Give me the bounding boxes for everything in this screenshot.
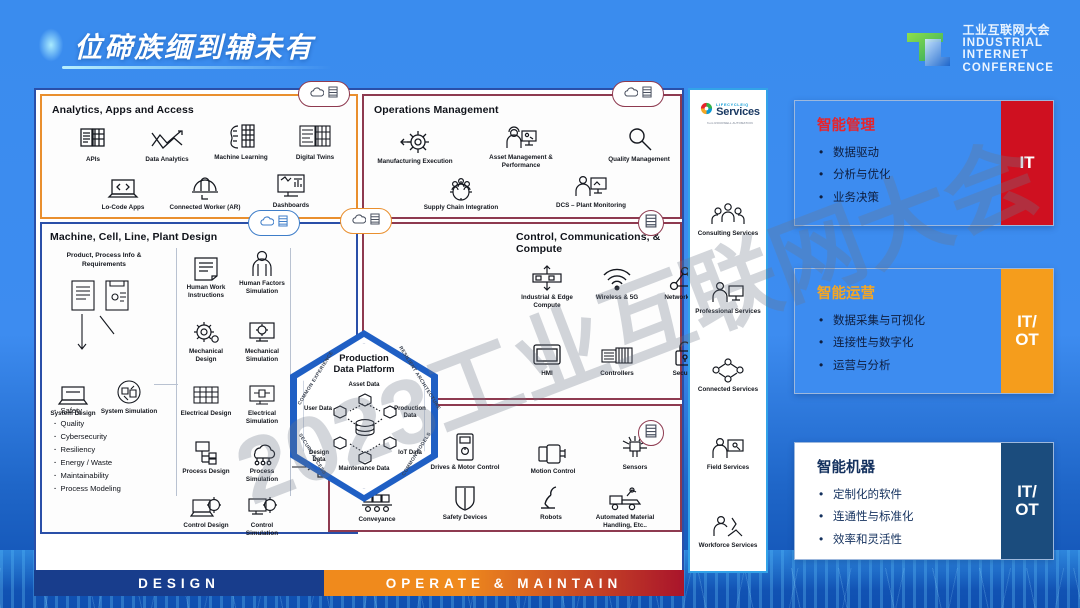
- design-group-line: [176, 248, 177, 496]
- card-2-bullets: 数据采集与可视化 连接性与数字化 运营与分析: [817, 310, 991, 377]
- hexagon-title-line1: Production: [339, 352, 388, 363]
- tile-label: Electrical Simulation: [234, 410, 290, 425]
- tile-label: Supply Chain Integration: [422, 204, 500, 212]
- badge-devices-rack[interactable]: [638, 420, 664, 446]
- tile-quality-management[interactable]: Quality Management: [600, 120, 678, 164]
- service-label: Consulting Services: [690, 230, 766, 238]
- tile-process-simulation[interactable]: Process Simulation: [234, 432, 290, 483]
- lifecycleiq-services-column[interactable]: LIFECYCLEIQ Services from ROCKWELL AUTOM…: [688, 88, 768, 573]
- title-underline: [62, 66, 332, 69]
- tile-label: DCS – Plant Monitoring: [552, 202, 630, 210]
- tile-asset-management[interactable]: Asset Management & Performance: [482, 118, 560, 169]
- tile-manufacturing-execution[interactable]: Manufacturing Execution: [376, 122, 454, 166]
- card-bullet: 数据采集与可视化: [817, 310, 991, 332]
- tile-label: Human Factors Simulation: [234, 280, 290, 295]
- card-bullet: 定制化的软件: [817, 484, 991, 506]
- controller-icon: [578, 334, 656, 368]
- bullet-item: Safety: [54, 404, 121, 417]
- page-title: 位碲族缅到辅未有: [74, 26, 314, 66]
- flow-tree-icon: [178, 432, 234, 466]
- card-1-body: 智能管理 数据驱动 分析与优化 业务决策: [795, 101, 1001, 225]
- tile-label: Dashboards: [252, 202, 330, 210]
- phase-bar-operate-maintain: OPERATE & MAINTAIN: [324, 570, 684, 596]
- tile-hmi[interactable]: HMI: [508, 334, 586, 378]
- badge-design-cloud[interactable]: [248, 210, 300, 236]
- workforce-icon: [690, 514, 766, 540]
- server-rack-icon: [278, 214, 288, 232]
- tile-supply-chain-integration[interactable]: Supply Chain Integration: [422, 168, 500, 212]
- panel-analytics-title: Analytics, Apps and Access: [52, 104, 194, 116]
- monitor-circuit-icon: [234, 374, 290, 408]
- tile-lo-code-apps[interactable]: Lo-Code Apps: [84, 168, 162, 212]
- bullet-item: Energy / Waste: [54, 456, 121, 469]
- tile-label: Controllers: [578, 370, 656, 378]
- brand-chinese: 工业互联网大会: [962, 24, 1054, 37]
- wifi-icon: [578, 258, 656, 292]
- panel-operations-title: Operations Management: [374, 104, 499, 116]
- card-2-title: 智能运营: [817, 282, 991, 303]
- architecture-diagram: Analytics, Apps and Access APIs Data Ana…: [34, 88, 684, 573]
- tile-label: Sensors: [596, 464, 674, 472]
- brand-line-2: INTERNET: [962, 49, 1054, 61]
- monitor-gear2-icon: [234, 486, 290, 520]
- conference-logo: 工业互联网大会 INDUSTRIAL INTERNET CONFERENCE: [903, 24, 1054, 74]
- tile-label: Manufacturing Execution: [376, 158, 454, 166]
- tile-label: Control Simulation: [234, 522, 290, 537]
- tile-label: Industrial & Edge Compute: [508, 294, 586, 309]
- hardhat-icon: [166, 168, 244, 202]
- card-1-tab: IT: [1001, 101, 1053, 225]
- design-attribute-bullets: Safety Quality Cybersecurity Resiliency …: [54, 404, 121, 495]
- tile-label: Machine Learning: [202, 154, 280, 162]
- professional-monitor-icon: [690, 280, 766, 306]
- tile-dashboards[interactable]: Dashboards: [252, 166, 330, 210]
- card-intelligent-operations[interactable]: 智能运营 数据采集与可视化 连接性与数字化 运营与分析 IT/ OT: [794, 268, 1054, 394]
- card-bullet: 业务决策: [817, 187, 991, 209]
- tile-mechanical-design[interactable]: Mechanical Design: [178, 312, 234, 363]
- tile-connected-worker[interactable]: Connected Worker (AR): [166, 168, 244, 212]
- edge-rack-icon: [508, 258, 586, 292]
- tile-label: Automated Material Handling, Etc..: [586, 514, 664, 529]
- cloud-icon: [310, 85, 324, 103]
- card-3-body: 智能机器 定制化的软件 连通性与标准化 效率和灵活性: [795, 443, 1001, 559]
- bullet-item: Resiliency: [54, 443, 121, 456]
- card-bullet: 连通性与标准化: [817, 506, 991, 528]
- tile-apis[interactable]: APIs: [54, 120, 132, 164]
- tile-label: Conveyance: [338, 516, 416, 524]
- brand-line-3: CONFERENCE: [962, 62, 1054, 74]
- service-label: Field Services: [690, 464, 766, 472]
- tile-label: Robots: [512, 514, 590, 522]
- brand-line-1: INDUSTRIAL: [962, 37, 1054, 49]
- worker-monitor-icon: [482, 118, 560, 152]
- card-bullet: 连接性与数字化: [817, 332, 991, 354]
- cloud-icon: [260, 214, 274, 232]
- laptop-code-icon: [84, 168, 162, 202]
- laptop-icon: [46, 374, 100, 408]
- badge-hexagon-cloud[interactable]: [340, 208, 392, 234]
- badge-control-rack[interactable]: [638, 210, 664, 236]
- card-intelligent-management[interactable]: 智能管理 数据驱动 分析与优化 业务决策 IT: [794, 100, 1054, 226]
- card-3-bullets: 定制化的软件 连通性与标准化 效率和灵活性: [817, 484, 991, 551]
- server-rack-icon: [642, 85, 652, 103]
- twin-panels-icon: [276, 118, 354, 152]
- services-brand-sub: from ROCKWELL AUTOMATION: [695, 121, 765, 125]
- tile-data-analytics[interactable]: Data Analytics: [128, 120, 206, 164]
- tile-mechanical-simulation[interactable]: Mechanical Simulation: [234, 312, 290, 363]
- hexagon-title-line2: Data Platform: [334, 363, 395, 374]
- tile-wireless-5g[interactable]: Wireless & 5G: [578, 258, 656, 302]
- server-rack-icon: [370, 212, 380, 230]
- card-bullet: 运营与分析: [817, 355, 991, 377]
- tile-motion-control[interactable]: Motion Control: [514, 432, 592, 476]
- cloud-icon: [624, 85, 638, 103]
- connected-network-icon: [690, 358, 766, 384]
- card-intelligent-machines[interactable]: 智能机器 定制化的软件 连通性与标准化 效率和灵活性 IT/ OT: [794, 442, 1054, 560]
- conference-logo-mark: [903, 27, 953, 71]
- bullet-item: Process Modeling: [54, 482, 121, 495]
- hmi-panel-icon: [508, 334, 586, 368]
- sim-network-icon: [100, 372, 158, 406]
- monitor-gear-icon: [234, 312, 290, 346]
- tile-robots[interactable]: Robots: [512, 478, 590, 522]
- bullet-item: Cybersecurity: [54, 430, 121, 443]
- panel-design-title: Machine, Cell, Line, Plant Design: [50, 231, 217, 243]
- motor-icon: [514, 432, 592, 466]
- tile-label: Safety Devices: [426, 514, 504, 522]
- instructions-doc-icon: [178, 248, 234, 282]
- person-icon: [234, 244, 290, 278]
- card-2-body: 智能运营 数据采集与可视化 连接性与数字化 运营与分析: [795, 269, 1001, 393]
- cloud-icon: [352, 212, 366, 230]
- service-consulting[interactable]: Consulting Services: [690, 202, 766, 238]
- laptop-gear-icon: [178, 486, 234, 520]
- gear-people-icon: [422, 168, 500, 202]
- panel-operations[interactable]: Operations Management Manufacturing Exec…: [362, 94, 682, 219]
- tile-label: Process Simulation: [234, 468, 290, 483]
- production-data-platform-hexagon[interactable]: Production Data Platform Asset Data User…: [290, 330, 438, 502]
- title-glow-decoration: [34, 22, 68, 68]
- service-field[interactable]: Field Services: [690, 436, 766, 472]
- service-connected[interactable]: Connected Services: [690, 358, 766, 394]
- tile-label: Lo-Code Apps: [84, 204, 162, 212]
- tile-control-design[interactable]: Control Design: [178, 486, 234, 530]
- tile-label: Control Design: [178, 522, 234, 530]
- tile-dcs-plant-monitoring[interactable]: DCS – Plant Monitoring: [552, 166, 630, 210]
- design-flow-arrows: [52, 312, 172, 378]
- tile-machine-learning[interactable]: Machine Learning: [202, 118, 280, 162]
- tile-label: HMI: [508, 370, 586, 378]
- tile-process-design[interactable]: Process Design: [178, 432, 234, 476]
- card-2-tab: IT/ OT: [1001, 269, 1053, 393]
- card-3-tab: IT/ OT: [1001, 443, 1053, 559]
- cloud-nodes-icon: [234, 432, 290, 466]
- server-rack-icon: [645, 214, 657, 233]
- services-brand: Services: [716, 107, 760, 118]
- tile-human-work-instructions[interactable]: Human Work Instructions: [178, 248, 234, 299]
- card-1-title: 智能管理: [817, 114, 991, 135]
- service-workforce[interactable]: Workforce Services: [690, 514, 766, 550]
- tile-label: Motion Control: [514, 468, 592, 476]
- service-label: Professional Services: [690, 308, 766, 316]
- tile-label: Wireless & 5G: [578, 294, 656, 302]
- tile-label: Quality Management: [600, 156, 678, 164]
- tile-label: Human Work Instructions: [178, 284, 234, 299]
- tile-control-simulation[interactable]: Control Simulation: [234, 486, 290, 537]
- circuit-sheet-icon: [178, 374, 234, 408]
- tile-label: APIs: [54, 156, 132, 164]
- brain-chip-icon: [202, 118, 280, 152]
- document-grid-icon: [54, 120, 132, 154]
- robot-arm-icon: [512, 478, 590, 512]
- lifecycleiq-mark-icon: [700, 102, 713, 120]
- tile-electrical-design[interactable]: Electrical Design: [178, 374, 234, 418]
- card-bullet: 分析与优化: [817, 164, 991, 186]
- tile-label: Electrical Design: [178, 410, 234, 418]
- consulting-people-icon: [690, 202, 766, 228]
- service-professional[interactable]: Professional Services: [690, 280, 766, 316]
- dashboard-monitor-icon: [252, 166, 330, 200]
- tile-label: Digital Twins: [276, 154, 354, 162]
- tile-label: Asset Management & Performance: [482, 154, 560, 169]
- badge-analytics-cloud[interactable]: [298, 81, 350, 107]
- tile-human-factors-simulation[interactable]: Human Factors Simulation: [234, 244, 290, 295]
- gear-wrench-icon: [376, 122, 454, 156]
- service-label: Connected Services: [690, 386, 766, 394]
- tile-controllers[interactable]: Controllers: [578, 334, 656, 378]
- bullet-item: Quality: [54, 417, 121, 430]
- tile-label: Mechanical Design: [178, 348, 234, 363]
- hex-node-asset-data: Asset Data: [334, 382, 394, 389]
- gear-icon: [178, 312, 234, 346]
- tile-label: Process Design: [178, 468, 234, 476]
- tile-digital-twins[interactable]: Digital Twins: [276, 118, 354, 162]
- card-1-bullets: 数据驱动 分析与优化 业务决策: [817, 142, 991, 209]
- operator-screen-icon: [552, 166, 630, 200]
- tile-label: Connected Worker (AR): [166, 204, 244, 212]
- server-rack-icon: [645, 424, 657, 443]
- trend-line-icon: [128, 120, 206, 154]
- magnifier-icon: [600, 120, 678, 154]
- tile-label: Mechanical Simulation: [234, 348, 290, 363]
- design-connector: [154, 384, 178, 385]
- tile-electrical-simulation[interactable]: Electrical Simulation: [234, 374, 290, 425]
- phase-bar-design: DESIGN: [34, 570, 324, 596]
- card-3-title: 智能机器: [817, 456, 991, 477]
- panel-analytics[interactable]: Analytics, Apps and Access APIs Data Ana…: [40, 94, 358, 219]
- card-bullet: 数据驱动: [817, 142, 991, 164]
- badge-operations-cloud[interactable]: [612, 81, 664, 107]
- tile-industrial-edge-compute[interactable]: Industrial & Edge Compute: [508, 258, 586, 309]
- service-label: Workforce Services: [690, 542, 766, 550]
- agv-icon: [586, 478, 664, 512]
- data-nodes-graphic: [330, 392, 400, 470]
- services-logo: LIFECYCLEIQ Services from ROCKWELL AUTOM…: [695, 102, 765, 125]
- design-input-label: Product, Process Info & Requirements: [58, 252, 150, 269]
- bullet-item: Maintainability: [54, 469, 121, 482]
- field-tech-icon: [690, 436, 766, 462]
- card-bullet: 效率和灵活性: [817, 529, 991, 551]
- tile-automated-material-handling[interactable]: Automated Material Handling, Etc..: [586, 478, 664, 529]
- server-rack-icon: [328, 85, 338, 103]
- tile-label: Data Analytics: [128, 156, 206, 164]
